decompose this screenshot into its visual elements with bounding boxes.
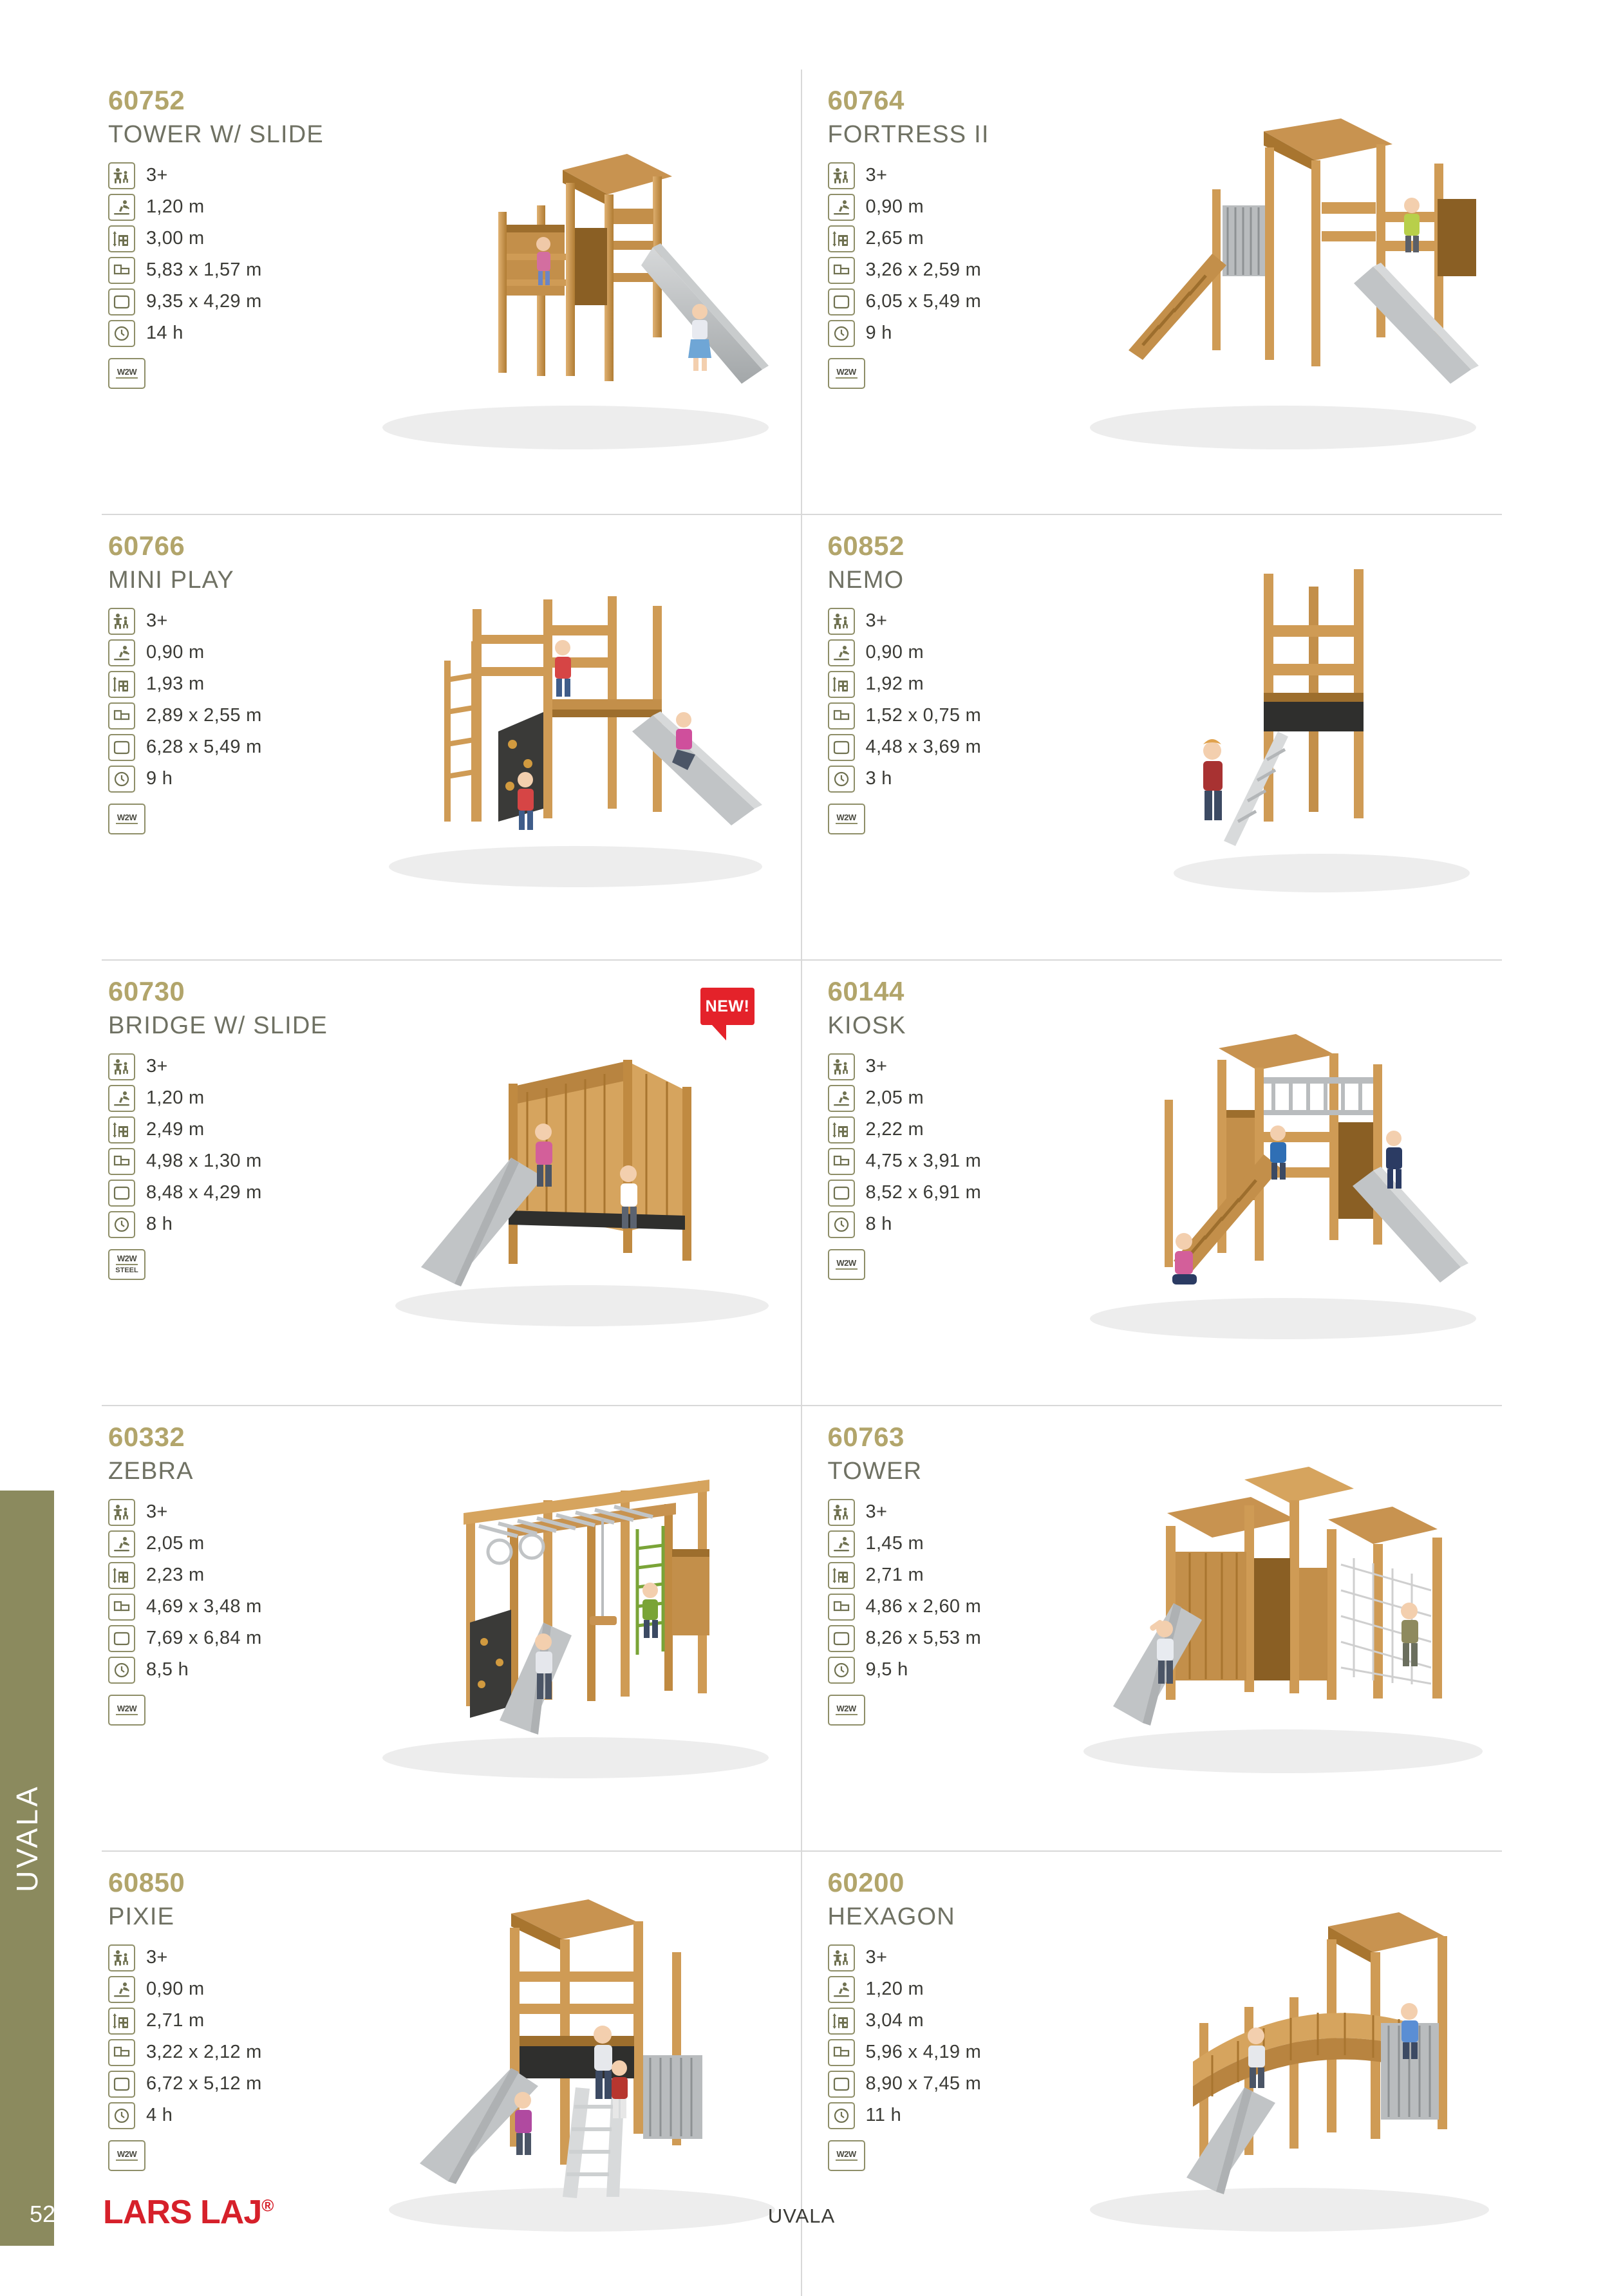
spec-value: 9,5 h: [866, 1659, 908, 1680]
total-height-icon: [828, 2008, 855, 2035]
certification-divider: [116, 1714, 138, 1715]
product-photo: [350, 538, 801, 937]
product-code: 60764: [828, 85, 905, 116]
spec-safety-area: 6,28 x 5,49 m: [108, 731, 379, 763]
product-row: 60752 TOWER W/ SLIDE 3+ 1,20 m 3,00 m 5,: [102, 70, 1502, 515]
page-footer: 52 LARS LAJ® UVALA: [0, 2175, 1603, 2265]
age-icon: [828, 162, 855, 189]
certification-badge: W2W: [108, 804, 145, 834]
certification-badge: W2W: [108, 358, 145, 389]
certification-divider: [836, 1268, 858, 1270]
spec-install-time: 9 h: [108, 763, 379, 795]
certification-badge: W2W: [108, 2140, 145, 2171]
product-code: 60752: [108, 85, 185, 116]
spec-safety-area: 8,48 x 4,29 m: [108, 1177, 379, 1209]
product-name: FORTRESS II: [828, 121, 989, 149]
product-row: 60332 ZEBRA 3+ 2,05 m 2,23 m 4,69 x 3,48: [102, 1406, 1502, 1852]
spec-value: 8 h: [866, 1214, 892, 1235]
spec-age: 3+: [108, 1496, 379, 1528]
product-code: 60200: [828, 1867, 905, 1898]
spec-value: 3+: [866, 1947, 888, 1968]
age-icon: [108, 162, 135, 189]
install-time-icon: [828, 2102, 855, 2129]
side-tab-uvala: UVALA: [0, 1491, 54, 2186]
total-height-icon: [828, 1116, 855, 1143]
dimensions-icon: [828, 2039, 855, 2066]
install-time-icon: [828, 1657, 855, 1684]
safety-area-icon: [108, 2071, 135, 2098]
spec-value: 0,90 m: [146, 1979, 204, 2000]
certification-divider: [116, 377, 138, 379]
safety-area-icon: [828, 2071, 855, 2098]
product-name: HEXAGON: [828, 1903, 955, 1931]
total-height-icon: [108, 1116, 135, 1143]
total-height-icon: [828, 1562, 855, 1589]
certification-divider: [116, 823, 138, 824]
total-height-icon: [108, 671, 135, 698]
age-icon: [828, 1944, 855, 1971]
age-icon: [108, 608, 135, 635]
spec-fall-height: 1,20 m: [108, 1082, 379, 1114]
spec-value: 5,96 x 4,19 m: [866, 2042, 982, 2063]
certification-badge: W2W: [828, 1695, 865, 1726]
total-height-icon: [108, 2008, 135, 2035]
spec-value: 3+: [146, 1947, 168, 1968]
certification-badge: W2W: [108, 1695, 145, 1726]
spec-value: 2,05 m: [146, 1533, 204, 1554]
product-card-60852[interactable]: 60852 NEMO 3+ 0,90 m 1,92 m 1,52 x 0,75: [802, 515, 1502, 959]
spec-value: 8,26 x 5,53 m: [866, 1628, 982, 1649]
dimensions-icon: [108, 2039, 135, 2066]
fall-height-icon: [108, 1976, 135, 2003]
certification-label: W2W: [117, 813, 136, 822]
spec-install-time: 4 h: [108, 2100, 379, 2131]
spec-install-time: 8,5 h: [108, 1654, 379, 1686]
spec-value: 2,71 m: [866, 1565, 924, 1586]
spec-value: 4 h: [146, 2105, 173, 2126]
install-time-icon: [828, 766, 855, 793]
spec-total-height: 2,23 m: [108, 1559, 379, 1591]
product-photo: [1051, 984, 1502, 1383]
certification-label: W2W: [836, 1259, 856, 1267]
spec-install-time: 14 h: [108, 317, 379, 349]
spec-value: 4,98 x 1,30 m: [146, 1151, 262, 1172]
spec-value: 1,45 m: [866, 1533, 924, 1554]
product-code: 60852: [828, 531, 905, 561]
fall-height-icon: [828, 194, 855, 221]
certification-divider: [836, 2160, 858, 2161]
product-specs: 3+ 1,20 m 3,00 m 5,83 x 1,57 m 9,35 x 4,…: [108, 160, 379, 389]
install-time-icon: [828, 1211, 855, 1238]
fall-height-icon: [828, 1085, 855, 1112]
spec-dimensions: 4,69 x 3,48 m: [108, 1591, 379, 1623]
spec-value: 4,69 x 3,48 m: [146, 1596, 262, 1617]
age-icon: [108, 1053, 135, 1080]
spec-value: 2,23 m: [146, 1565, 204, 1586]
certification-label: W2W: [117, 1254, 136, 1263]
certification-badge-steel: W2W STEEL: [108, 1249, 145, 1280]
product-specs: 3+ 1,20 m 2,49 m 4,98 x 1,30 m 8,48 x 4,…: [108, 1051, 379, 1280]
fall-height-icon: [828, 639, 855, 666]
product-photo: [1051, 1429, 1502, 1829]
spec-value: 3+: [866, 1056, 888, 1077]
install-time-icon: [108, 1211, 135, 1238]
certification-label-steel: STEEL: [115, 1266, 138, 1275]
spec-value: 1,20 m: [866, 1979, 924, 2000]
spec-value: 0,90 m: [866, 642, 924, 663]
safety-area-icon: [108, 1180, 135, 1207]
dimensions-icon: [828, 702, 855, 729]
age-icon: [108, 1944, 135, 1971]
spec-value: 1,93 m: [146, 673, 204, 695]
product-photo: [350, 93, 801, 492]
spec-value: 9 h: [146, 768, 173, 789]
dimensions-icon: [108, 1594, 135, 1621]
certification-label: W2W: [836, 368, 856, 376]
spec-value: 9,35 x 4,29 m: [146, 291, 262, 312]
product-code: 60766: [108, 531, 185, 561]
spec-value: 14 h: [146, 323, 183, 344]
product-card-60730[interactable]: 60730 BRIDGE W/ SLIDE NEW! 3+ 1,20 m 2,4…: [102, 961, 802, 1405]
product-name: TOWER W/ SLIDE: [108, 121, 324, 149]
spec-value: 3+: [146, 1501, 168, 1523]
product-code: 60850: [108, 1867, 185, 1898]
spec-value: 1,20 m: [146, 196, 204, 218]
install-time-icon: [108, 2102, 135, 2129]
spec-dimensions: 2,89 x 2,55 m: [108, 700, 379, 731]
spec-value: 3+: [146, 1056, 168, 1077]
certification-label: W2W: [836, 813, 856, 822]
certification-label: W2W: [117, 368, 136, 376]
spec-value: 8 h: [146, 1214, 173, 1235]
product-name: MINI PLAY: [108, 567, 234, 594]
total-height-icon: [828, 225, 855, 252]
product-name: BRIDGE W/ SLIDE: [108, 1012, 328, 1040]
spec-dimensions: 4,98 x 1,30 m: [108, 1145, 379, 1177]
spec-total-height: 1,93 m: [108, 668, 379, 700]
total-height-icon: [108, 225, 135, 252]
product-photo: [350, 984, 801, 1383]
spec-value: 11 h: [866, 2105, 902, 2126]
spec-fall-height: 2,05 m: [108, 1528, 379, 1559]
dimensions-icon: [108, 1148, 135, 1175]
dimensions-icon: [108, 702, 135, 729]
spec-value: 6,72 x 5,12 m: [146, 2073, 262, 2094]
spec-value: 3 h: [866, 768, 892, 789]
product-specs: 3+ 0,90 m 1,93 m 2,89 x 2,55 m 6,28 x 5,…: [108, 605, 379, 834]
product-row: 60730 BRIDGE W/ SLIDE NEW! 3+ 1,20 m 2,4…: [102, 961, 1502, 1406]
spec-value: 0,90 m: [146, 642, 204, 663]
certification-badge: W2W: [828, 1249, 865, 1280]
spec-value: 2,22 m: [866, 1119, 924, 1140]
certification-label: W2W: [117, 2150, 136, 2158]
product-name: KIOSK: [828, 1012, 906, 1040]
spec-value: 3+: [866, 610, 888, 632]
certification-badge: W2W: [828, 2140, 865, 2171]
spec-fall-height: 0,90 m: [108, 1973, 379, 2005]
side-tab-label: UVALA: [10, 1784, 44, 1892]
fall-height-icon: [108, 194, 135, 221]
spec-value: 2,65 m: [866, 228, 924, 249]
spec-age: 3+: [108, 605, 379, 637]
dimensions-icon: [828, 1594, 855, 1621]
spec-dimensions: 5,83 x 1,57 m: [108, 254, 379, 286]
install-time-icon: [108, 1657, 135, 1684]
spec-age: 3+: [108, 1942, 379, 1973]
install-time-icon: [108, 320, 135, 347]
dimensions-icon: [108, 257, 135, 284]
product-code: 60332: [108, 1422, 185, 1453]
spec-value: 4,48 x 3,69 m: [866, 737, 982, 758]
dimensions-icon: [828, 257, 855, 284]
spec-safety-area: 7,69 x 6,84 m: [108, 1623, 379, 1654]
fall-height-icon: [108, 639, 135, 666]
spec-install-time: 8 h: [108, 1209, 379, 1240]
total-height-icon: [828, 671, 855, 698]
spec-age: 3+: [108, 160, 379, 191]
product-card-60763[interactable]: 60763 TOWER 3+ 1,45 m 2,71 m 4,86 x 2,60: [802, 1406, 1502, 1850]
spec-fall-height: 0,90 m: [108, 637, 379, 668]
safety-area-icon: [828, 1180, 855, 1207]
age-icon: [828, 1053, 855, 1080]
fall-height-icon: [828, 1530, 855, 1557]
product-code: 60763: [828, 1422, 905, 1453]
product-card-60766[interactable]: 60766 MINI PLAY 3+ 0,90 m 1,93 m 2,89 x: [102, 515, 802, 959]
spec-total-height: 2,49 m: [108, 1114, 379, 1145]
install-time-icon: [828, 320, 855, 347]
age-icon: [108, 1499, 135, 1526]
spec-value: 5,83 x 1,57 m: [146, 259, 262, 281]
spec-value: 6,05 x 5,49 m: [866, 291, 982, 312]
spec-value: 6,28 x 5,49 m: [146, 737, 262, 758]
certification-divider: [116, 1264, 138, 1265]
spec-value: 1,52 x 0,75 m: [866, 705, 982, 726]
spec-value: 3,04 m: [866, 2010, 924, 2031]
spec-value: 4,86 x 2,60 m: [866, 1596, 982, 1617]
product-name: PIXIE: [108, 1903, 174, 1931]
install-time-icon: [108, 766, 135, 793]
certification-badge: W2W: [828, 804, 865, 834]
spec-value: 4,75 x 3,91 m: [866, 1151, 982, 1172]
footer-series-label: UVALA: [0, 2205, 1603, 2228]
spec-value: 2,05 m: [866, 1087, 924, 1109]
certification-label: W2W: [117, 1704, 136, 1713]
spec-value: 8,48 x 4,29 m: [146, 1182, 262, 1203]
age-icon: [828, 1499, 855, 1526]
safety-area-icon: [828, 1625, 855, 1652]
spec-dimensions: 3,22 x 2,12 m: [108, 2037, 379, 2068]
spec-value: 8,5 h: [146, 1659, 189, 1680]
spec-value: 1,20 m: [146, 1087, 204, 1109]
product-photo: [1051, 538, 1502, 937]
spec-value: 3+: [866, 1501, 888, 1523]
product-name: NEMO: [828, 567, 905, 594]
certification-divider: [836, 377, 858, 379]
spec-value: 3+: [866, 165, 888, 186]
spec-value: 3+: [146, 610, 168, 632]
spec-value: 8,52 x 6,91 m: [866, 1182, 982, 1203]
spec-value: 2,89 x 2,55 m: [146, 705, 262, 726]
product-photo: [350, 1429, 801, 1829]
fall-height-icon: [108, 1530, 135, 1557]
product-specs: 3+ 2,05 m 2,23 m 4,69 x 3,48 m 7,69 x 6,…: [108, 1496, 379, 1726]
certification-divider: [116, 2160, 138, 2161]
spec-value: 9 h: [866, 323, 892, 344]
total-height-icon: [108, 1562, 135, 1589]
spec-value: 1,92 m: [866, 673, 924, 695]
spec-value: 3,26 x 2,59 m: [866, 259, 982, 281]
spec-age: 3+: [108, 1051, 379, 1082]
product-card-60144[interactable]: 60144 KIOSK 3+ 2,05 m 2,22 m 4,75 x 3,91: [802, 961, 1502, 1405]
product-code: 60730: [108, 976, 185, 1007]
spec-safety-area: 9,35 x 4,29 m: [108, 286, 379, 317]
spec-value: 2,49 m: [146, 1119, 204, 1140]
product-code: 60144: [828, 976, 905, 1007]
product-name: ZEBRA: [108, 1458, 194, 1485]
certification-label: W2W: [836, 2150, 856, 2158]
spec-value: 2,71 m: [146, 2010, 204, 2031]
dimensions-icon: [828, 1148, 855, 1175]
age-icon: [828, 608, 855, 635]
spec-value: 3,00 m: [146, 228, 204, 249]
certification-label: W2W: [836, 1704, 856, 1713]
spec-value: 7,69 x 6,84 m: [146, 1628, 262, 1649]
product-row: 60766 MINI PLAY 3+ 0,90 m 1,93 m 2,89 x: [102, 515, 1502, 961]
product-grid: 60752 TOWER W/ SLIDE 3+ 1,20 m 3,00 m 5,: [102, 70, 1502, 2130]
safety-area-icon: [108, 288, 135, 315]
certification-divider: [836, 1714, 858, 1715]
product-photo: [1051, 93, 1502, 492]
spec-value: 3,22 x 2,12 m: [146, 2042, 262, 2063]
product-card-60752[interactable]: 60752 TOWER W/ SLIDE 3+ 1,20 m 3,00 m 5,: [102, 70, 802, 514]
spec-total-height: 2,71 m: [108, 2005, 379, 2037]
certification-divider: [836, 823, 858, 824]
safety-area-icon: [108, 734, 135, 761]
spec-value: 3+: [146, 165, 168, 186]
certification-badge: W2W: [828, 358, 865, 389]
fall-height-icon: [108, 1085, 135, 1112]
spec-safety-area: 6,72 x 5,12 m: [108, 2068, 379, 2100]
fall-height-icon: [828, 1976, 855, 2003]
product-card-60764[interactable]: 60764 FORTRESS II 3+ 0,90 m 2,65 m 3,26: [802, 70, 1502, 514]
spec-value: 8,90 x 7,45 m: [866, 2073, 982, 2094]
product-name: TOWER: [828, 1458, 923, 1485]
spec-total-height: 3,00 m: [108, 223, 379, 254]
spec-fall-height: 1,20 m: [108, 191, 379, 223]
safety-area-icon: [108, 1625, 135, 1652]
safety-area-icon: [828, 734, 855, 761]
product-card-60332[interactable]: 60332 ZEBRA 3+ 2,05 m 2,23 m 4,69 x 3,48: [102, 1406, 802, 1850]
safety-area-icon: [828, 288, 855, 315]
product-specs: 3+ 0,90 m 2,71 m 3,22 x 2,12 m 6,72 x 5,…: [108, 1942, 379, 2171]
spec-value: 0,90 m: [866, 196, 924, 218]
